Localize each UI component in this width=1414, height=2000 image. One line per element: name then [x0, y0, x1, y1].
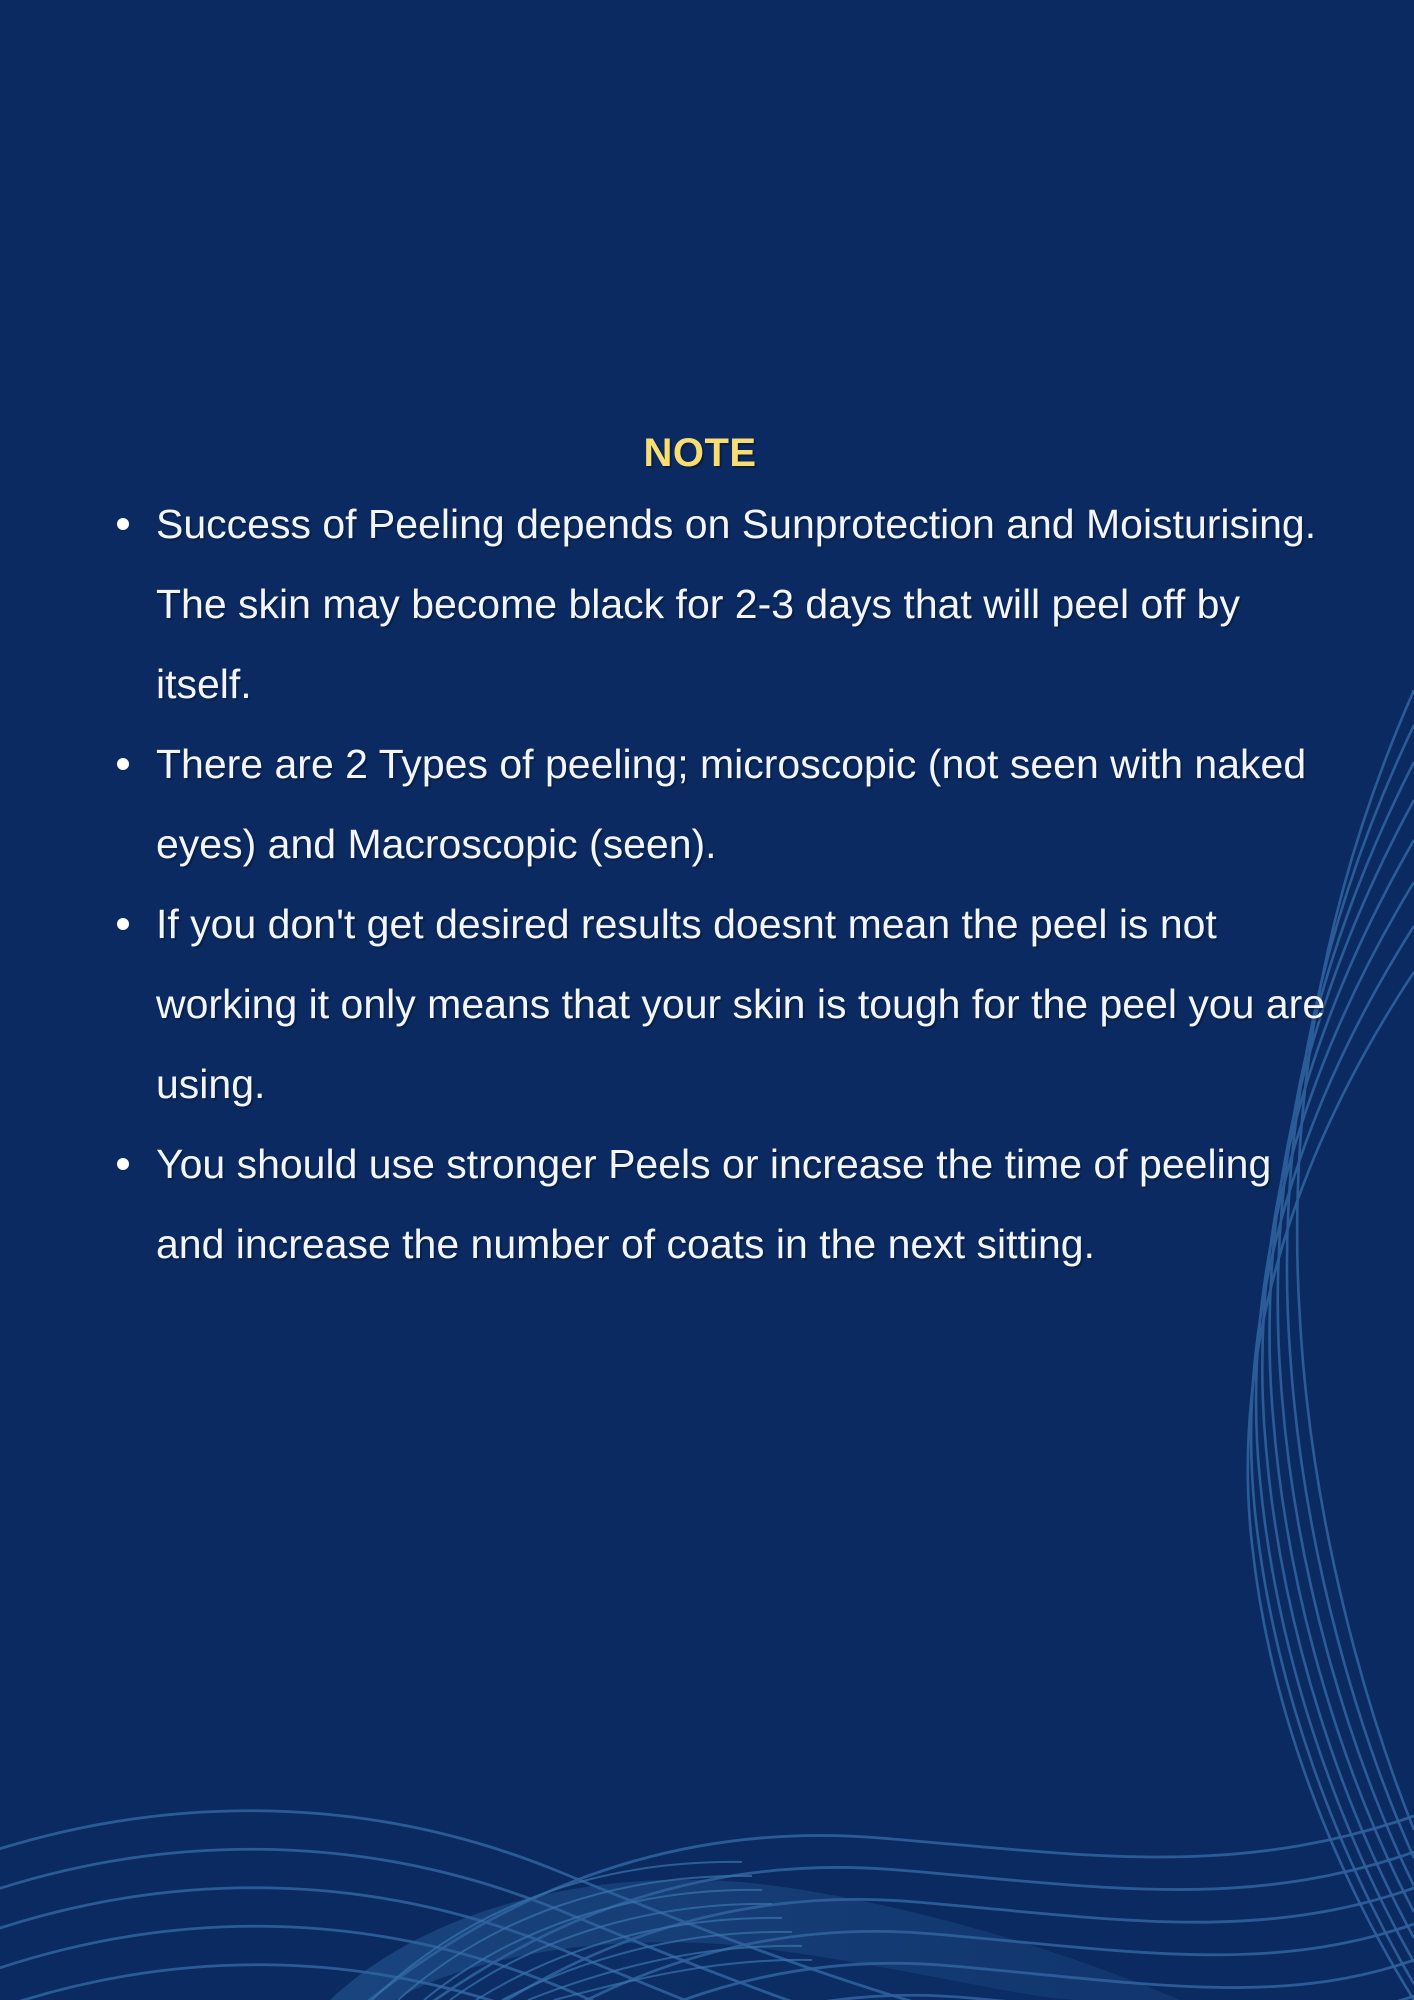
page-title: NOTE — [0, 430, 1414, 476]
bottom-wave-lines-right — [300, 1816, 1414, 2000]
bullet-point-icon — [117, 1158, 129, 1170]
list-item: There are 2 Types of peeling; microscopi… — [0, 724, 1414, 884]
bullet-point-icon — [117, 518, 129, 530]
list-item-text: If you don't get desired results doesnt … — [156, 901, 1325, 1107]
bottom-wave-fan — [372, 1862, 812, 2000]
note-bullet-list: Success of Peeling depends on Sunprotect… — [0, 484, 1414, 1284]
bullet-point-icon — [117, 758, 129, 770]
list-item-text: You should use stronger Peels or increas… — [156, 1141, 1271, 1267]
list-item: If you don't get desired results doesnt … — [0, 884, 1414, 1124]
list-item-text: There are 2 Types of peeling; microscopi… — [156, 741, 1306, 867]
list-item: You should use stronger Peels or increas… — [0, 1124, 1414, 1284]
slide-page: NOTE Success of Peeling depends on Sunpr… — [0, 0, 1414, 2000]
list-item-text: Success of Peeling depends on Sunprotect… — [156, 501, 1316, 707]
bottom-light-blob — [330, 1880, 1180, 2000]
bottom-wave-lines-left — [0, 1811, 1224, 2000]
bullet-point-icon — [117, 918, 129, 930]
slide-content: NOTE Success of Peeling depends on Sunpr… — [0, 0, 1414, 1284]
list-item: Success of Peeling depends on Sunprotect… — [0, 484, 1414, 724]
